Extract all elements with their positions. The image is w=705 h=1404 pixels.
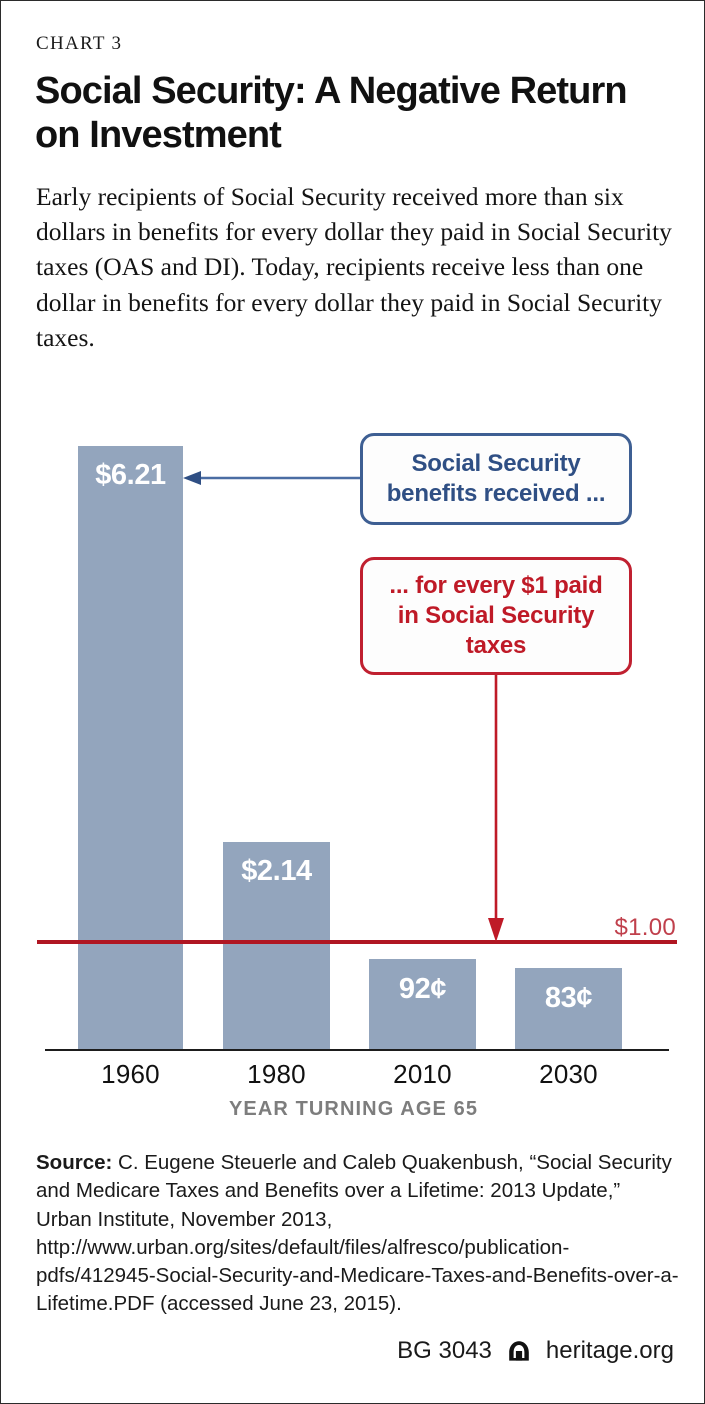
callout-red-line2: in Social Security: [398, 602, 594, 629]
callout-red-line3: taxes: [466, 632, 526, 659]
red-arrow-icon: [488, 675, 504, 942]
page-title: Social Security: A Negative Return on In…: [35, 69, 655, 157]
bar-label-1980: $2.14: [223, 855, 330, 888]
callout-blue-line1: Social Security: [411, 450, 580, 477]
bar-label-2010: 92¢: [369, 973, 476, 1006]
callout-per-dollar-paid[interactable]: ... for every $1 paid in Social Security…: [360, 557, 632, 675]
reference-line-label: $1.00: [614, 914, 676, 942]
footer: BG 3043 heritage.org: [397, 1337, 674, 1365]
x-tick-2030: 2030: [515, 1059, 622, 1090]
source-note: Source: C. Eugene Steuerle and Caleb Qua…: [36, 1149, 681, 1319]
x-axis-line: [45, 1049, 669, 1051]
heritage-bell-icon: [506, 1338, 532, 1364]
chart-kicker: CHART 3: [36, 33, 122, 55]
reference-line-1-dollar: [37, 940, 677, 944]
bar-label-2030: 83¢: [515, 982, 622, 1015]
report-id: BG 3043: [397, 1337, 492, 1365]
x-axis-title: YEAR TURNING AGE 65: [1, 1098, 705, 1121]
callout-benefits-received[interactable]: Social Security benefits received ...: [360, 433, 632, 525]
blue-arrow-icon: [183, 471, 360, 485]
x-tick-2010: 2010: [369, 1059, 476, 1090]
chart-page: CHART 3 Social Security: A Negative Retu…: [0, 0, 705, 1404]
callout-red-text: ... for every $1 paid in Social Security…: [389, 571, 602, 660]
callout-red-line1: ... for every $1 paid: [389, 572, 602, 599]
source-text: C. Eugene Steuerle and Caleb Quakenbush,…: [36, 1151, 679, 1315]
callout-blue-text: Social Security benefits received ...: [387, 449, 606, 509]
bar-1960: [78, 446, 183, 1049]
x-tick-1980: 1980: [223, 1059, 330, 1090]
x-tick-1960: 1960: [78, 1059, 183, 1090]
bar-label-1960: $6.21: [78, 459, 183, 492]
chart-description: Early recipients of Social Security rece…: [36, 179, 674, 355]
source-label: Source:: [36, 1151, 112, 1174]
callout-blue-line2: benefits received ...: [387, 480, 606, 507]
site-name: heritage.org: [546, 1337, 674, 1365]
